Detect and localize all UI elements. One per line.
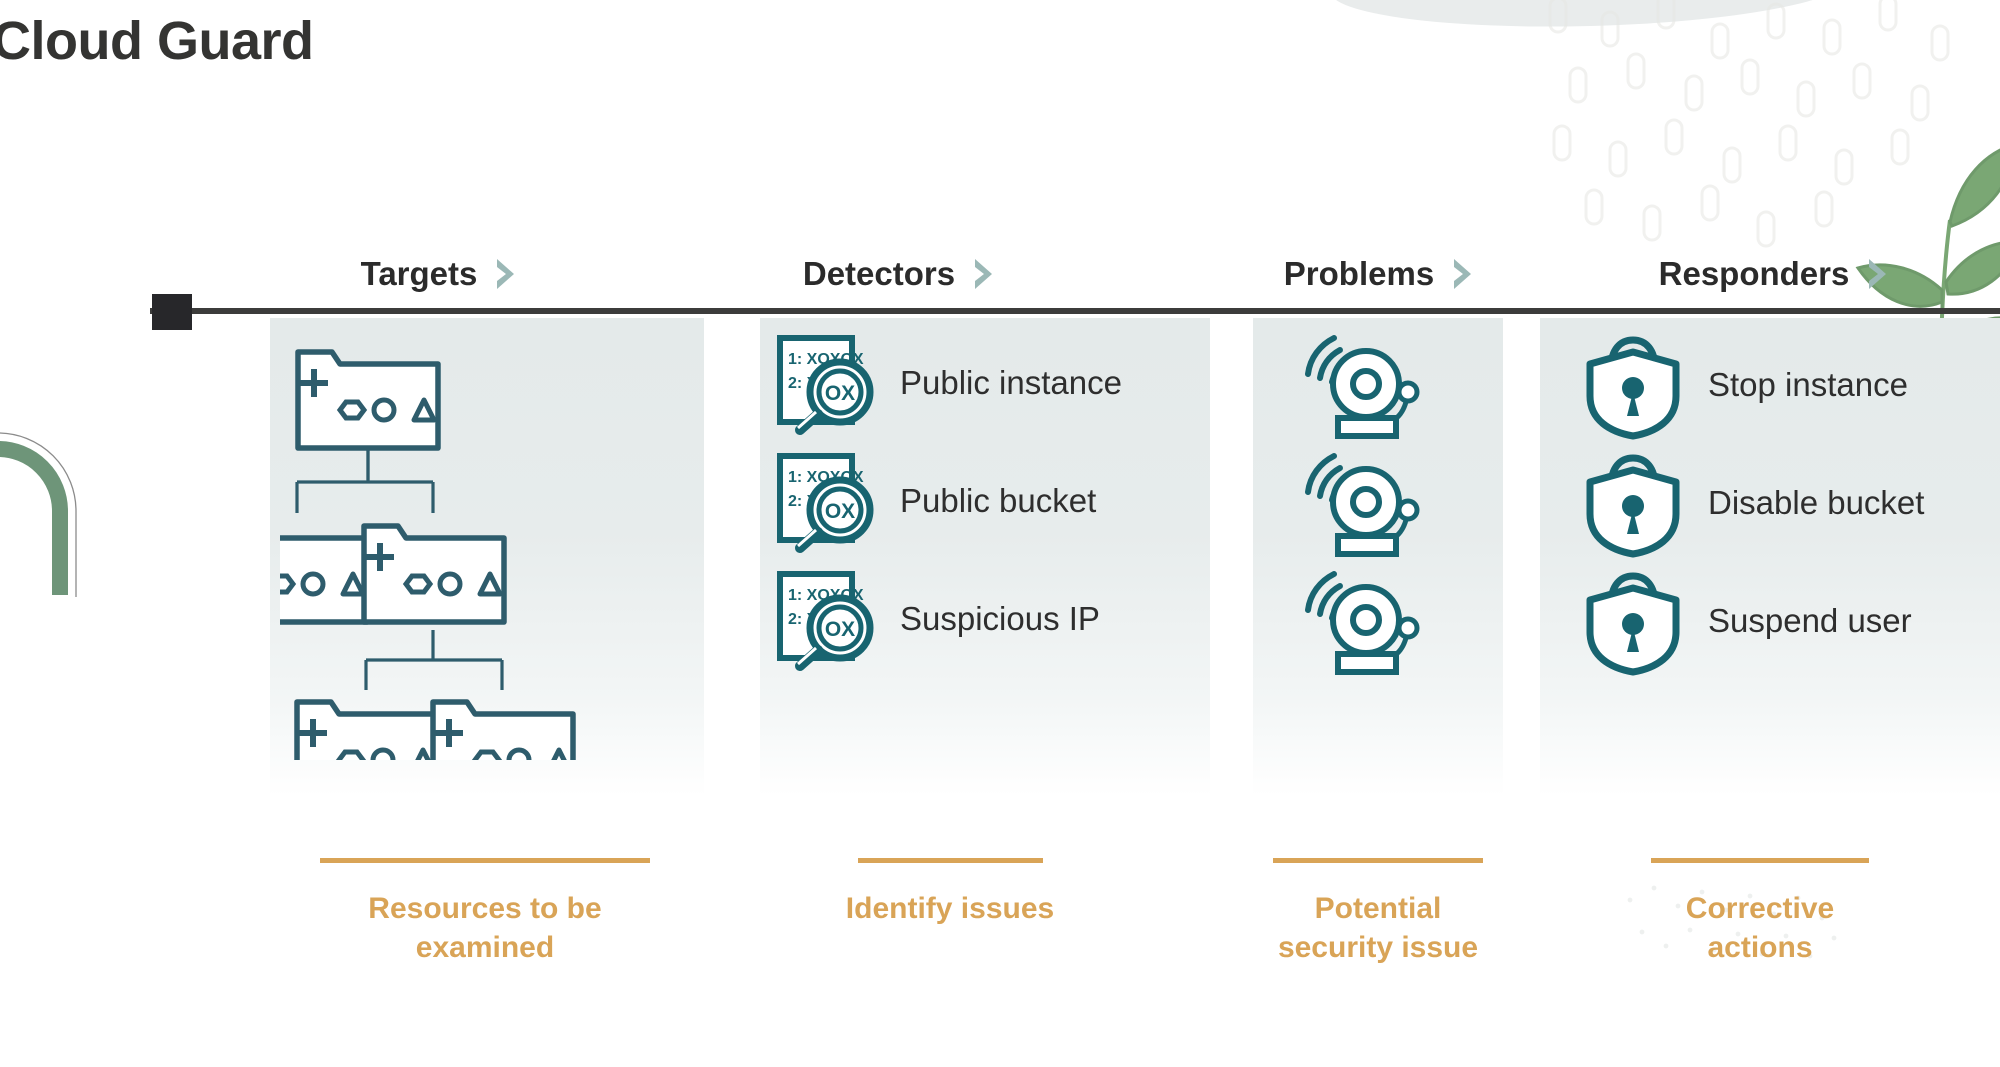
chevron-right-icon [971,257,997,291]
svg-text:OX: OX [825,618,855,641]
alarm-bell-icon [1298,448,1423,558]
caption-detectors: Identify issues [800,858,1100,928]
folder-node-child-left [280,526,367,622]
shield-lock-icon [1580,330,1686,440]
list-item-label: Stop instance [1708,366,1908,404]
column-header-label: Responders [1659,255,1850,293]
alarm-bell-icon [1298,330,1423,440]
folder-node-child-right [364,526,504,622]
shield-lock-icon [1580,448,1686,558]
targets-folder-tree [280,330,700,760]
list-item-detector-0[interactable]: 1: XOXOX 2: XO OX Public instance [772,330,1122,436]
list-item-responder-2[interactable]: Suspend user [1580,566,1912,676]
list-item-problem-0[interactable] [1298,330,1445,440]
chevron-right-icon [1450,257,1476,291]
caption-text: Potential security issue [1263,889,1493,967]
caption-targets: Resources to be examined [300,858,670,967]
svg-text:OX: OX [825,382,855,405]
document-magnifier-icon: 1: XOXOX 2: XO OX [772,448,878,554]
folder-node-leaf-right [433,702,573,760]
list-item-label: Disable bucket [1708,484,1924,522]
list-item-label: Suspicious IP [900,600,1100,638]
caption-text: Identify issues [800,889,1100,928]
caption-rule [1273,858,1483,863]
folder-node-leaf-left [297,702,437,760]
document-magnifier-icon: 1: XOXOX 2: XO OX [772,330,878,436]
list-item-detector-1[interactable]: 1: XOXOX 2: XO OX Public bucket [772,448,1096,554]
column-header-targets[interactable]: Targets [270,255,610,293]
list-item-responder-1[interactable]: Disable bucket [1580,448,1924,558]
caption-responders: Corrective actions [1635,858,1885,967]
caption-problems: Potential security issue [1263,858,1493,967]
caption-rule [858,858,1043,863]
list-item-problem-2[interactable] [1298,566,1445,676]
caption-text: Resources to be examined [300,889,670,967]
column-header-detectors[interactable]: Detectors [700,255,1100,293]
svg-text:OX: OX [825,500,855,523]
list-item-problem-1[interactable] [1298,448,1445,558]
timeline-start-marker [152,294,192,330]
caption-rule [1651,858,1869,863]
column-header-label: Detectors [803,255,955,293]
list-item-label: Public bucket [900,482,1096,520]
column-header-responders[interactable]: Responders [1595,255,1955,293]
list-item-detector-2[interactable]: 1: XOXOX 2: XO OX Suspicious IP [772,566,1100,672]
chevron-right-icon [493,257,519,291]
shield-lock-icon [1580,566,1686,676]
chevron-right-icon [1865,257,1891,291]
document-magnifier-icon: 1: XOXOX 2: XO OX [772,566,878,672]
list-item-label: Public instance [900,364,1122,402]
column-header-label: Problems [1284,255,1434,293]
cloud-guard-flow-diagram: Targets [0,0,2000,1067]
column-header-problems[interactable]: Problems [1225,255,1535,293]
caption-text: Corrective actions [1635,889,1885,967]
column-header-label: Targets [361,255,478,293]
list-item-label: Suspend user [1708,602,1912,640]
folder-node-root [298,352,438,448]
alarm-bell-icon [1298,566,1423,676]
list-item-responder-0[interactable]: Stop instance [1580,330,1908,440]
caption-rule [320,858,650,863]
timeline-axis [150,308,2000,314]
